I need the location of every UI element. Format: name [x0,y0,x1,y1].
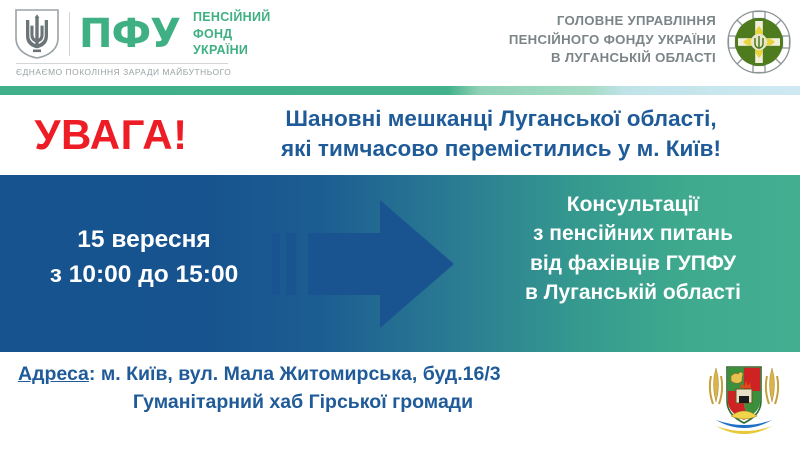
pfu-abbreviation: ПФУ [79,15,180,53]
address-line-2: Гуманітарний хаб Гірської громади [18,388,658,416]
poster-header: ПФУ ПЕНСІЙНИЙ ФОНД УКРАЇНИ ЄДНАЄМО ПОКОЛ… [0,0,800,86]
department-line-2: ПЕНСІЙНОГО ФОНДУ УКРАЇНИ [509,31,716,50]
poster-canvas: ПФУ ПЕНСІЙНИЙ ФОНД УКРАЇНИ ЄДНАЄМО ПОКОЛ… [0,0,800,450]
pfu-logo-lockup: ПФУ ПЕНСІЙНИЙ ФОНД УКРАЇНИ [14,8,271,60]
address-separator: : [89,363,101,385]
greeting-text: Шановні мешканці Луганської області, які… [212,104,790,163]
address-line-1-row: Адреса: м. Київ, вул. Мала Житомирська, … [18,360,658,388]
greeting-line-2: які тимчасово перемістились у м. Київ! [212,134,790,164]
address-line-1: м. Київ, вул. Мала Житомирська, буд.16/3 [101,363,501,385]
event-date: 15 вересня [8,223,280,258]
event-datetime: 15 вересня з 10:00 до 15:00 [8,223,280,293]
address-label: Адреса [18,363,89,385]
pfu-word-2: ФОНД [193,26,271,43]
header-accent-rule [0,86,800,95]
pfu-word-1: ПЕНСІЙНИЙ [193,9,271,26]
pfu-fullname: ПЕНСІЙНИЙ ФОНД УКРАЇНИ [193,9,271,59]
pfu-tagline: ЄДНАЄМО ПОКОЛІННЯ ЗАРАДИ МАЙБУТНЬОГО [16,67,228,77]
logo-divider [69,12,70,56]
department-line-3: В ЛУГАНСЬКІЙ ОБЛАСТІ [509,49,716,68]
department-line-1: ГОЛОВНЕ УПРАВЛІННЯ [509,12,716,31]
attention-label: УВАГА! [16,111,206,159]
pfu-tagline-block: ЄДНАЄМО ПОКОЛІННЯ ЗАРАДИ МАЙБУТНЬОГО [16,63,228,77]
ukraine-trident-shield-icon [14,8,60,60]
department-title: ГОЛОВНЕ УПРАВЛІННЯ ПЕНСІЙНОГО ФОНДУ УКРА… [509,12,716,68]
address-block: Адреса: м. Київ, вул. Мала Житомирська, … [18,360,658,417]
event-time-range: з 10:00 до 15:00 [8,258,280,293]
pfu-word-3: УКРАЇНИ [193,42,271,59]
attention-banner: УВАГА! Шановні мешканці Луганської облас… [0,95,800,175]
greeting-line-1: Шановні мешканці Луганської області, [212,104,790,134]
tagline-divider [16,63,228,64]
poster-footer: Адреса: м. Київ, вул. Мала Житомирська, … [0,352,800,450]
